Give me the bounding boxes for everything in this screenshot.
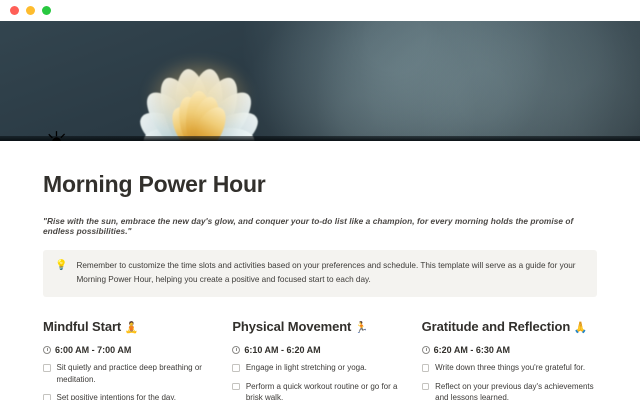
column-heading[interactable]: Gratitude and Reflection 🙏 (422, 319, 597, 334)
clock-icon (43, 346, 51, 354)
window-titlebar (0, 0, 640, 21)
todo-item[interactable]: Set positive intentions for the day. (43, 392, 218, 400)
todo-text: Perform a quick workout routine or go fo… (246, 381, 408, 400)
checkbox[interactable] (43, 364, 51, 372)
time-slot-text: 6:00 AM - 7:00 AM (55, 345, 131, 355)
maximize-button[interactable] (42, 6, 51, 15)
callout-text: Remember to customize the time slots and… (76, 259, 585, 287)
time-slot-text: 6:10 AM - 6:20 AM (244, 345, 320, 355)
column-physical-movement: Physical Movement 🏃 6:10 AM - 6:20 AM En… (232, 319, 407, 400)
folded-hands-icon: 🙏 (574, 321, 588, 334)
time-slot[interactable]: 6:00 AM - 7:00 AM (43, 345, 218, 355)
callout-block[interactable]: 💡 Remember to customize the time slots a… (43, 250, 597, 297)
checkbox[interactable] (43, 394, 51, 400)
todo-text: Sit quietly and practice deep breathing … (57, 362, 219, 385)
time-slot-text: 6:20 AM - 6:30 AM (434, 345, 510, 355)
checkbox[interactable] (232, 364, 240, 372)
lightbulb-icon: 💡 (55, 259, 67, 273)
column-mindful-start: Mindful Start 🧘 6:00 AM - 7:00 AM Sit qu… (43, 319, 218, 400)
column-heading[interactable]: Physical Movement 🏃 (232, 319, 407, 334)
water-lily-graphic (96, 27, 302, 141)
todo-text: Set positive intentions for the day. (57, 392, 176, 400)
time-slot[interactable]: 6:10 AM - 6:20 AM (232, 345, 407, 355)
person-meditating-icon: 🧘 (125, 321, 139, 334)
columns-container: Mindful Start 🧘 6:00 AM - 7:00 AM Sit qu… (43, 319, 597, 400)
cover-image[interactable]: ☀ (0, 21, 640, 141)
todo-item[interactable]: Perform a quick workout routine or go fo… (232, 381, 407, 400)
checkbox[interactable] (422, 383, 430, 391)
todo-text: Reflect on your previous day's achieveme… (435, 381, 597, 400)
todo-text: Engage in light stretching or yoga. (246, 362, 367, 374)
column-heading-text: Physical Movement (232, 319, 351, 334)
sun-icon[interactable]: ☀ (43, 129, 70, 141)
todo-item[interactable]: Sit quietly and practice deep breathing … (43, 362, 218, 385)
todo-text: Write down three things you're grateful … (435, 362, 585, 374)
person-running-icon: 🏃 (355, 321, 369, 334)
page-quote[interactable]: "Rise with the sun, embrace the new day'… (43, 216, 597, 236)
column-heading-text: Gratitude and Reflection (422, 319, 571, 334)
page-content: Morning Power Hour "Rise with the sun, e… (0, 171, 640, 400)
minimize-button[interactable] (26, 6, 35, 15)
column-gratitude-reflection: Gratitude and Reflection 🙏 6:20 AM - 6:3… (422, 319, 597, 400)
column-heading[interactable]: Mindful Start 🧘 (43, 319, 218, 334)
page-title[interactable]: Morning Power Hour (43, 171, 597, 198)
time-slot[interactable]: 6:20 AM - 6:30 AM (422, 345, 597, 355)
todo-item[interactable]: Engage in light stretching or yoga. (232, 362, 407, 374)
clock-icon (232, 346, 240, 354)
column-heading-text: Mindful Start (43, 319, 121, 334)
todo-item[interactable]: Reflect on your previous day's achieveme… (422, 381, 597, 400)
todo-item[interactable]: Write down three things you're grateful … (422, 362, 597, 374)
clock-icon (422, 346, 430, 354)
checkbox[interactable] (232, 383, 240, 391)
checkbox[interactable] (422, 364, 430, 372)
close-button[interactable] (10, 6, 19, 15)
